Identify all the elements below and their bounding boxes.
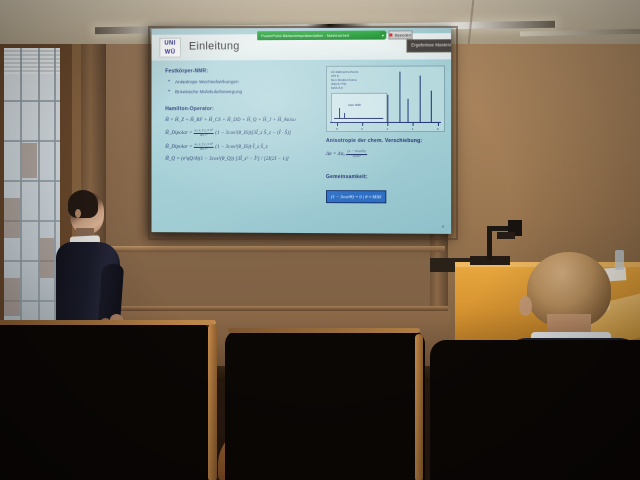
chair-back (225, 330, 425, 480)
equation-fraction: μ₀ γ_I γ_S ħ² 8π r³ (194, 143, 214, 151)
highlighted-formula-box: (1 − 3cos²θ) = 0 | θ ≈ MAS (326, 190, 386, 203)
equation-quadrupolar: Ĥ_Q = (e²qQ/4)(1 − 3cos²(θ_Q)) [3Î_z² − … (165, 157, 314, 162)
bullet-item: Anisotrope Wechselwirkungen (175, 79, 314, 84)
equation-rhs: (1 − 3cos²(θ_IS))[3Î_z Ŝ_z − (Î · Ŝ)] (215, 131, 291, 136)
lecture-hall-scene: UNI WÜ Einleitung PowerPoint-Bildschirmp… (0, 0, 640, 480)
fraction-denominator: 12πν³ (347, 155, 367, 159)
equation-dipolar-1: Ĥ_Dipolar = μ₀ γ_I γ_S ħ² 8π r³ (1 − 3co… (165, 129, 314, 137)
microphone-bracket (497, 232, 515, 239)
chair-side-edge (415, 334, 423, 480)
fraction-denominator: 8π r³ (194, 148, 214, 152)
chair-back (430, 340, 640, 480)
spectrum-x-axis (330, 122, 441, 123)
slide-title: Einleitung (189, 40, 240, 52)
slide-right-column: Anisotropie der chem. Verschiebung: Δσ =… (326, 138, 443, 204)
end-show-button[interactable]: Beenden (388, 30, 412, 39)
equation-lhs: Ĥ_Dipolar (165, 145, 188, 150)
presenter-hair (68, 190, 98, 218)
presentation-slide: UNI WÜ Einleitung PowerPoint-Bildschirmp… (152, 27, 452, 234)
equation-chemical-shift: Δσ = Δσ₀ (1 − 3cos²θ) 12πν³ (326, 150, 443, 158)
end-show-label: Beenden (395, 32, 411, 37)
spectrum-legend: 1H-Hahnecho-Kurve 275 K Den Struktur-Kur… (331, 70, 358, 90)
spectrum-peak (408, 99, 409, 122)
chevron-right-icon[interactable]: ▸ (380, 32, 386, 39)
presenter-ear (75, 209, 81, 218)
university-logo: UNI WÜ (159, 38, 181, 58)
hamiltonian-equation: Ĥ = Ĥ_Z + Ĥ_RF + Ĥ_CS + Ĥ_DD + Ĥ_Q + Ĥ_J… (165, 118, 314, 123)
powerpoint-toolbar[interactable]: PowerPoint-Bildschirmpräsentation - Mast… (257, 31, 385, 41)
spectrum-peak (420, 76, 421, 122)
spectrum-peak (431, 91, 432, 122)
projection-screen: UNI WÜ Einleitung PowerPoint-Bildschirmp… (152, 27, 452, 234)
equation-fraction: μ₀ γ_I γ_S ħ² 8π r³ (194, 129, 214, 137)
x-tick-label: 0 (437, 127, 438, 130)
chair-side-edge (208, 324, 217, 480)
section-heading-festkoerper: Festkörper-NMR: (165, 68, 314, 74)
logo-line-1: UNI (164, 41, 176, 47)
window-blind (4, 48, 60, 74)
audience-ear (519, 296, 532, 316)
chair-top-edge (228, 328, 420, 333)
equation-lhs: Ĥ_Q (165, 157, 175, 162)
section-heading-common: Gemeinsamkeit: (326, 174, 443, 180)
slide-number: 4 (442, 224, 444, 229)
fraction-denominator: 8π r³ (194, 134, 214, 138)
spectrum-inset-label: static NMR (348, 104, 361, 107)
x-tick-label: 8 (336, 127, 337, 130)
x-tick-label: 4 (387, 127, 388, 130)
spectrum-peak (387, 95, 388, 122)
presentation-name-tag: Ergebnisse Masterarbeit (407, 39, 452, 52)
equation-fraction: (1 − 3cos²θ) 12πν³ (347, 150, 367, 158)
bullet-item: Brownsche Molekularbewegung (175, 89, 314, 94)
x-tick-label: 2 (412, 127, 413, 130)
equation-dipolar-2: Ĥ_Dipolar = μ₀ γ_I γ_S ħ² 8π r³ (1 − 3co… (165, 143, 314, 151)
equation-rhs: (1 − 3cos²(θ_IS)) Î_z Ŝ_z (215, 145, 267, 150)
logo-line-2: WÜ (165, 50, 176, 56)
legend-line: MAS 8,0 (331, 86, 358, 90)
section-heading-hamilton: Hamilton-Operator: (165, 106, 314, 112)
slide-left-column: Festkörper-NMR: Anisotrope Wechselwirkun… (165, 68, 314, 168)
equation-lhs: Ĥ_Dipolar (165, 131, 188, 136)
x-tick-label: 6 (361, 127, 362, 130)
spectrum-inset-plot: static NMR (331, 93, 387, 123)
section-heading-cs-anisotropy: Anisotropie der chem. Verschiebung: (326, 138, 443, 144)
nmr-spectrum: 1H-Hahnecho-Kurve 275 K Den Struktur-Kur… (326, 65, 445, 132)
record-dot-icon (390, 34, 393, 37)
chair-back (0, 322, 215, 480)
equation-lhs: Δσ = Δσ₀ (326, 152, 345, 157)
spectrum-peak (399, 72, 400, 122)
chair-top-edge (0, 320, 216, 325)
equation-rhs: = (e²qQ/4)(1 − 3cos²(θ_Q)) [3Î_z² − Î²] … (176, 157, 288, 162)
microphone-pole (487, 228, 492, 260)
